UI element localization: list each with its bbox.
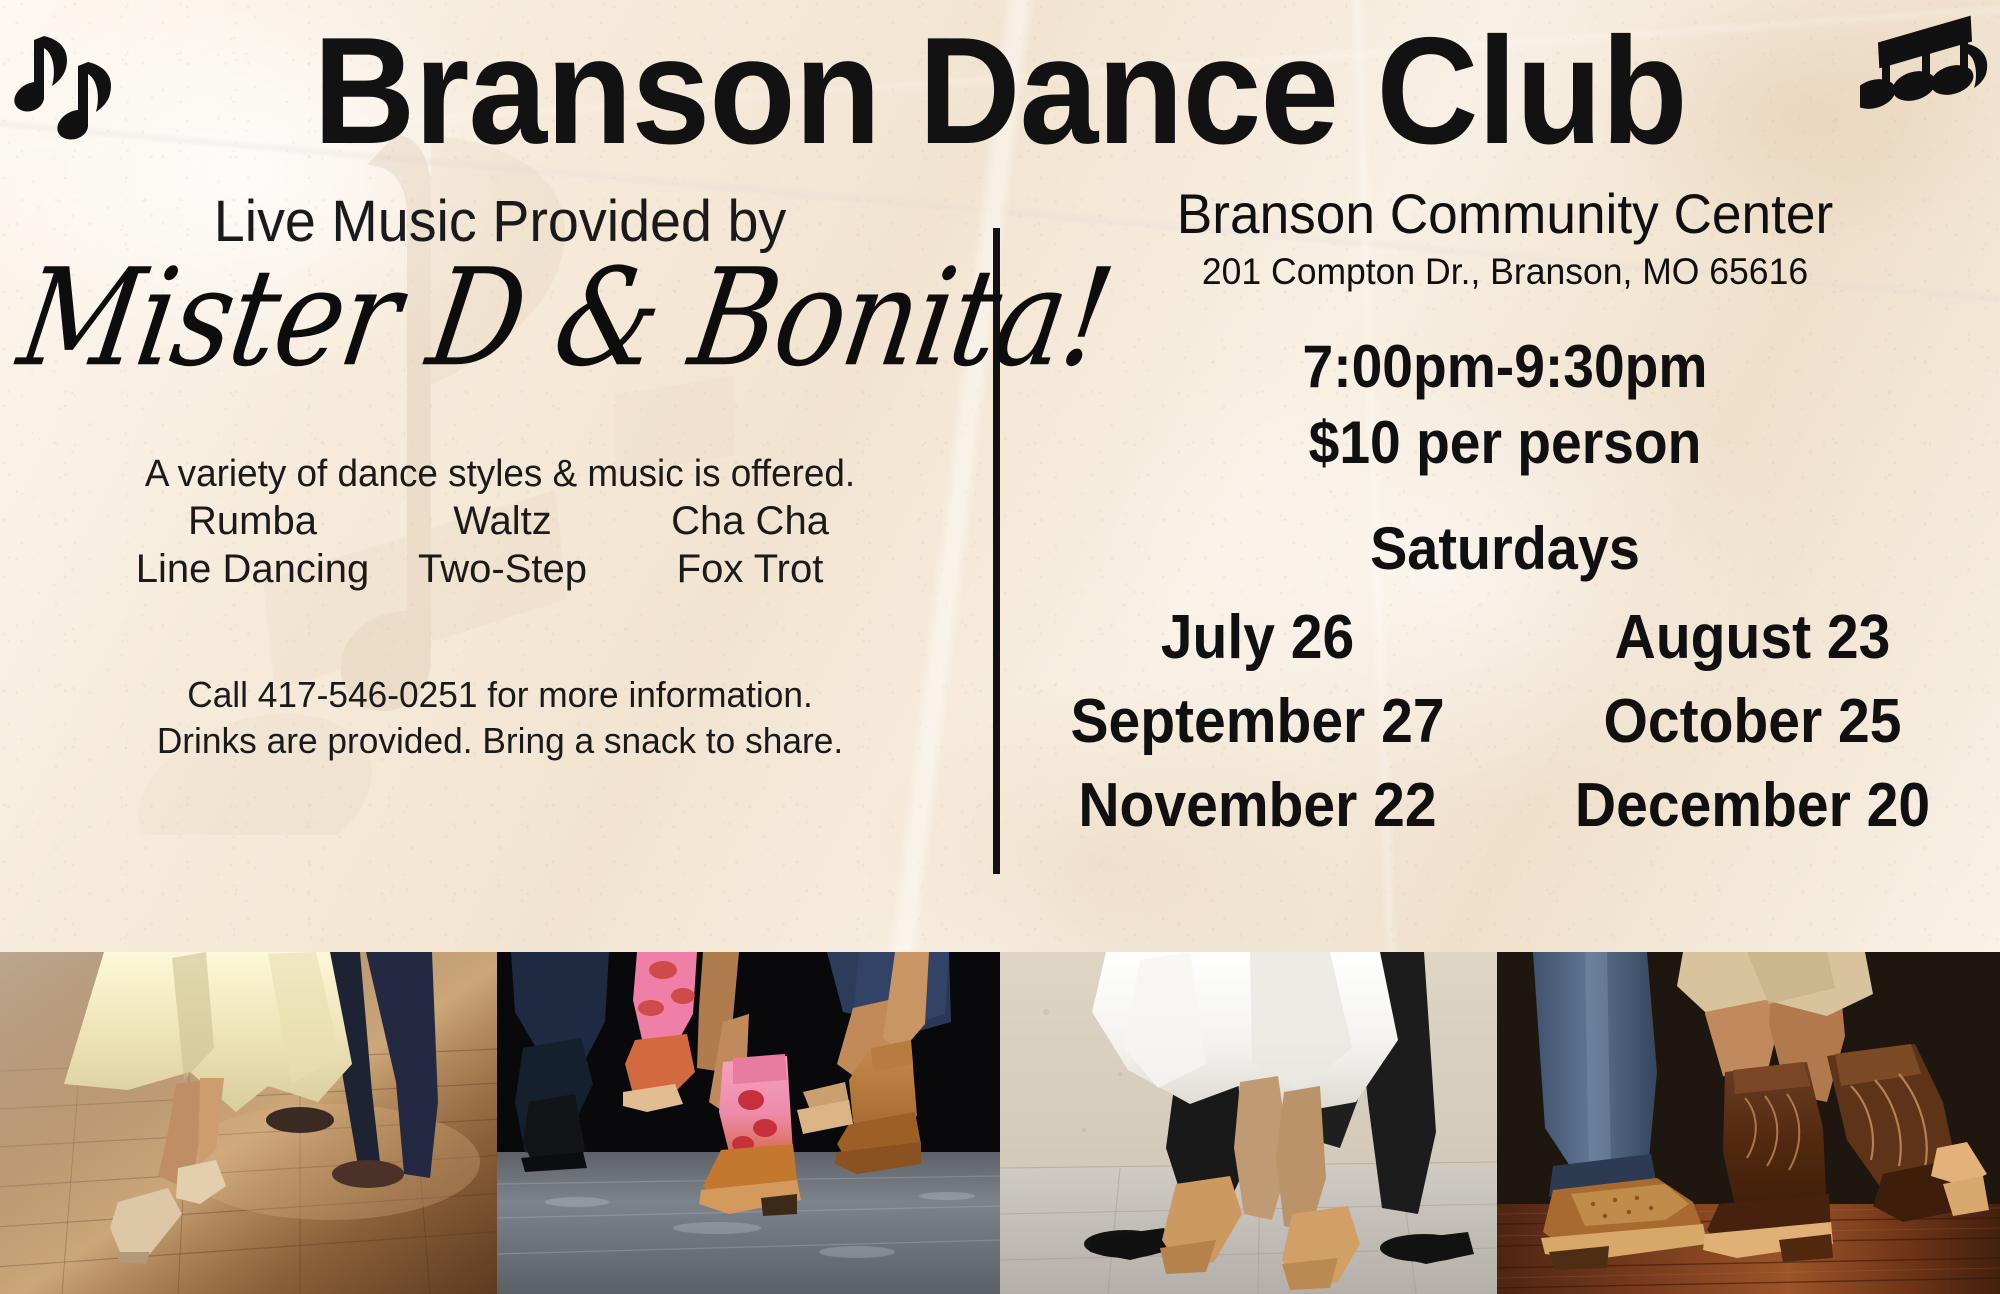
photo-two-step-cowboy-boots <box>1497 952 2000 1294</box>
photo-line-dancing-cowboy-boots <box>497 952 1000 1294</box>
contact-snack-line: Drinks are provided. Bring a snack to sh… <box>30 718 971 764</box>
dance-style: Line Dancing <box>125 546 380 592</box>
beamed-eighth-notes-icon <box>1860 10 1990 130</box>
day-of-week-label: Saturdays <box>1045 514 1966 584</box>
dance-style: Fox Trot <box>625 546 875 592</box>
event-price: $10 per person <box>1050 406 1961 480</box>
photo-strip <box>0 952 2000 1294</box>
left-column: Live Music Provided by Mister D & Bonita… <box>20 190 980 930</box>
band-name: Mister D & Bonita! <box>11 248 993 390</box>
dance-style: Waltz <box>380 498 625 544</box>
dance-styles-row: Rumba Waltz Cha Cha <box>20 498 980 544</box>
event-date: December 20 <box>1525 764 1980 848</box>
dance-style: Cha Cha <box>625 498 875 544</box>
title-row: Branson Dance Club <box>0 2 2000 182</box>
event-date: August 23 <box>1525 596 1980 680</box>
dance-style: Two-Step <box>380 546 625 592</box>
venue-name: Branson Community Center <box>1035 182 1976 246</box>
page-title: Branson Dance Club <box>70 2 1930 180</box>
event-date: November 22 <box>1030 764 1485 848</box>
event-dates-grid: July 26 August 23 September 27 October 2… <box>1010 596 2000 848</box>
dance-style: Rumba <box>125 498 380 544</box>
dance-styles-intro: A variety of dance styles & music is off… <box>34 452 965 496</box>
photo-ballroom-couple-wood-floor <box>0 952 497 1294</box>
event-time: 7:00pm-9:30pm <box>1050 330 1961 404</box>
dance-styles-block: A variety of dance styles & music is off… <box>20 452 980 592</box>
dance-styles-row: Line Dancing Two-Step Fox Trot <box>20 546 980 592</box>
event-date: July 26 <box>1030 596 1485 680</box>
time-price-block: 7:00pm-9:30pm $10 per person <box>1010 330 2000 480</box>
event-date: October 25 <box>1525 680 1980 764</box>
photo-ballroom-couple-stone-floor <box>1000 952 1497 1294</box>
contact-phone-line: Call 417-546-0251 for more information. <box>30 672 971 718</box>
dance-club-flyer: Branson Dance Club Live Music Provided b… <box>0 0 2000 1294</box>
contact-block: Call 417-546-0251 for more information. … <box>20 672 980 764</box>
right-column: Branson Community Center 201 Compton Dr.… <box>1010 182 2000 942</box>
venue-address: 201 Compton Dr., Branson, MO 65616 <box>1030 248 1980 296</box>
event-date: September 27 <box>1030 680 1485 764</box>
